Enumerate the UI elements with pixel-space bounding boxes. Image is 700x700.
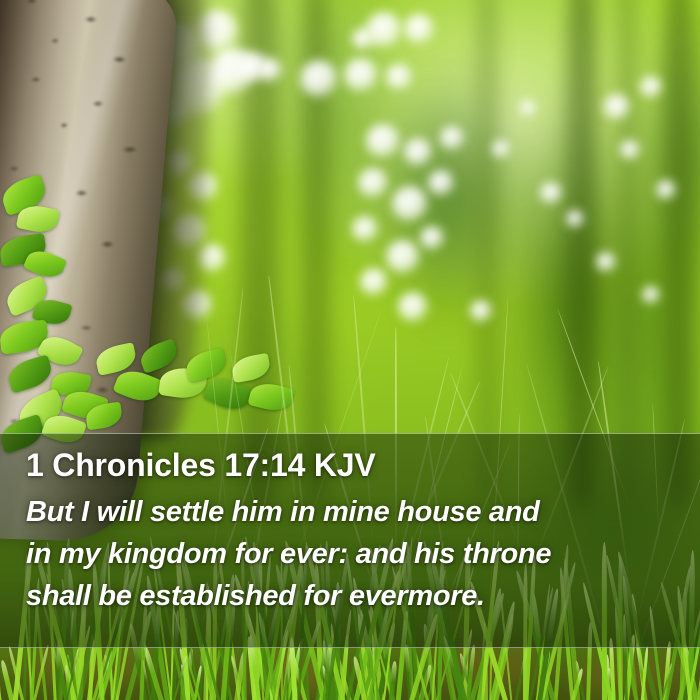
bokeh-dot <box>258 58 282 82</box>
bokeh-dot <box>366 124 400 158</box>
bokeh-dot <box>440 126 464 150</box>
verse-block: 1 Chronicles 17:14 KJV But I will settle… <box>0 433 700 648</box>
bokeh-dot <box>640 76 662 98</box>
bokeh-dot <box>352 28 374 50</box>
bokeh-dot <box>358 168 388 198</box>
bokeh-dot <box>540 182 562 204</box>
bokeh-dot <box>398 292 428 322</box>
bokeh-dot <box>492 140 510 158</box>
bokeh-dot <box>404 14 434 44</box>
verse-line-3: shall be established for evermore. <box>26 575 680 617</box>
bokeh-dot <box>420 226 444 250</box>
verse-image-card: 1 Chronicles 17:14 KJV But I will settle… <box>0 0 700 700</box>
bokeh-dot <box>428 170 454 196</box>
bokeh-dot <box>620 140 640 160</box>
bokeh-dot <box>386 64 412 90</box>
verse-line-2: in my kingdom for ever: and his throne <box>26 533 680 575</box>
bokeh-dot <box>386 240 420 274</box>
bokeh-dot <box>352 216 378 242</box>
bokeh-dot <box>604 94 630 120</box>
bokeh-dot <box>566 210 584 228</box>
bokeh-dot <box>392 186 428 222</box>
bokeh-dot <box>656 180 676 200</box>
bokeh-dot <box>596 252 616 272</box>
bokeh-dot <box>404 138 432 166</box>
verse-line-1: But I will settle him in mine house and <box>26 491 680 533</box>
bokeh-dot <box>520 100 536 116</box>
bokeh-dot <box>300 60 338 98</box>
bokeh-dot <box>470 300 492 322</box>
bokeh-dot <box>344 58 378 92</box>
verse-text: But I will settle him in mine house and … <box>26 491 680 617</box>
verse-reference: 1 Chronicles 17:14 KJV <box>26 443 680 487</box>
bokeh-dot <box>360 268 388 296</box>
bokeh-dot <box>642 286 660 304</box>
